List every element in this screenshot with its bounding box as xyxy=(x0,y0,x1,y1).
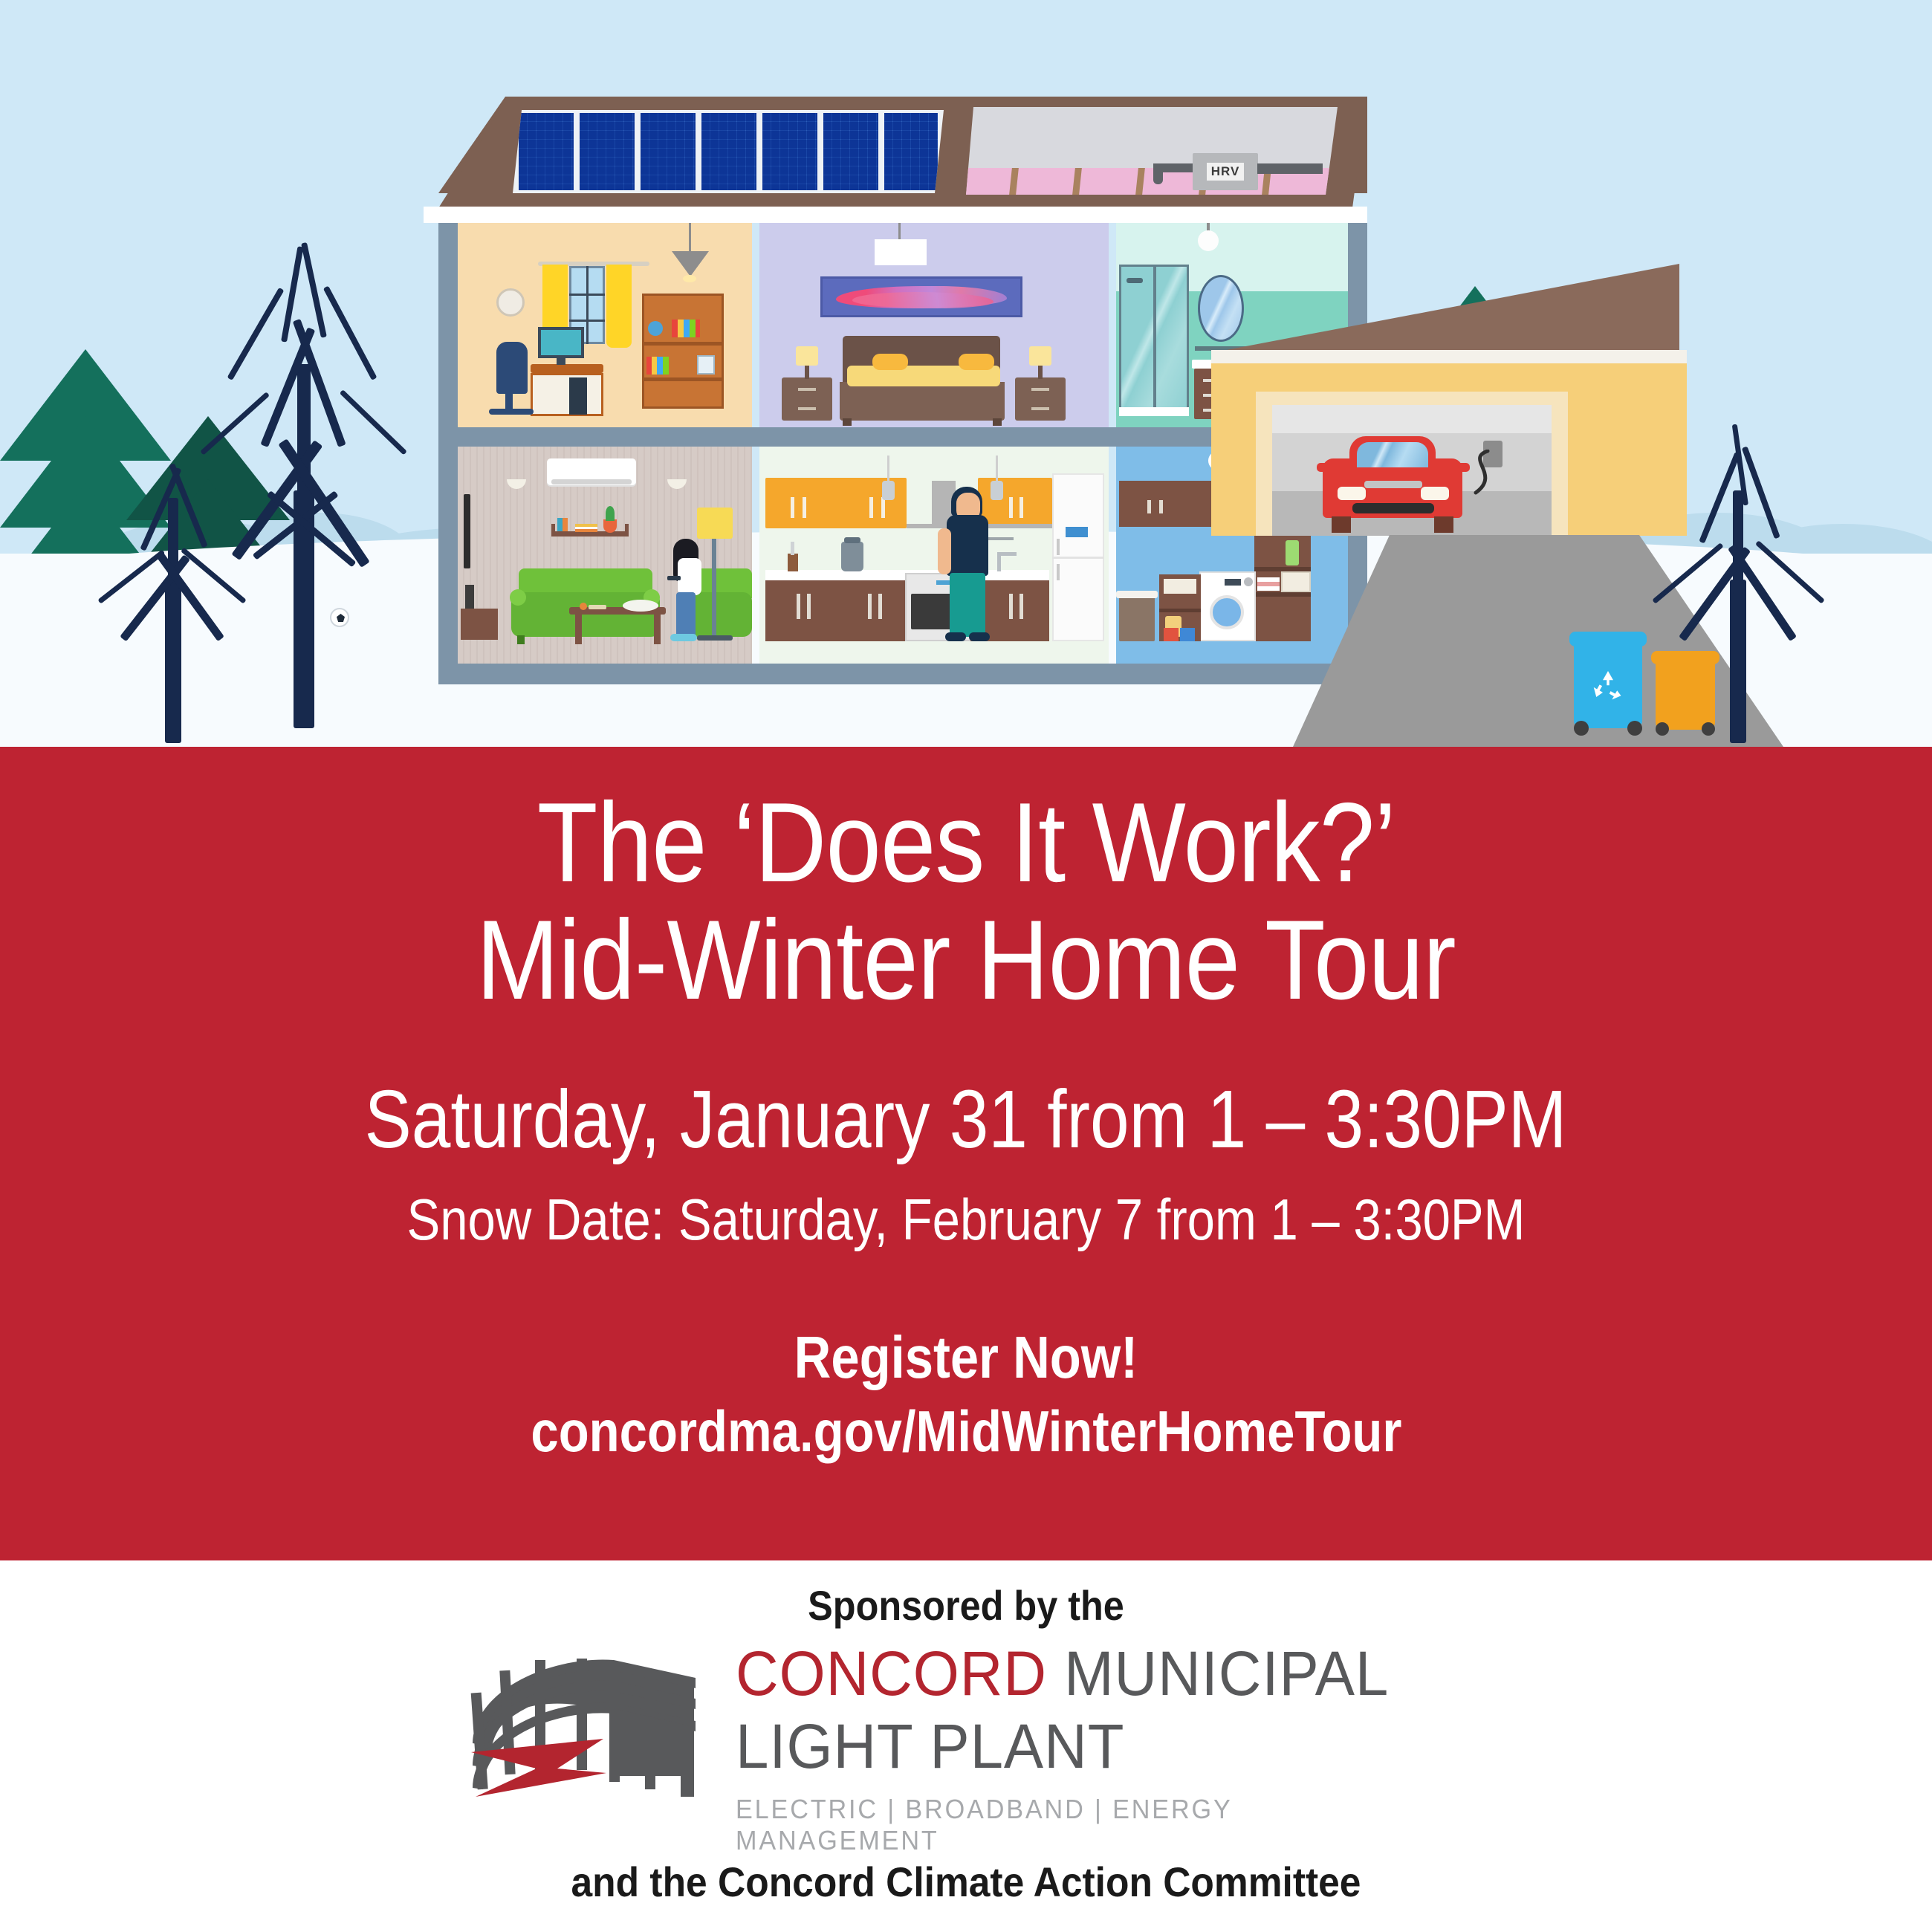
logo-tagline: ELECTRIC | BROADBAND | ENERGY MANAGEMENT xyxy=(736,1794,1442,1856)
shelf-books xyxy=(557,518,568,531)
cabinet-handle xyxy=(1009,594,1013,619)
cabinet-handle xyxy=(868,594,872,619)
hrv-duct-elbow xyxy=(1153,163,1163,184)
poster-root: HRV xyxy=(0,0,1932,1932)
room-kitchen xyxy=(759,447,1109,664)
kettle-lid xyxy=(844,537,860,543)
shelf-board xyxy=(1254,592,1311,597)
cabinet-handle xyxy=(807,594,811,619)
shelf-bracket xyxy=(551,524,555,534)
bed-base xyxy=(840,382,1005,421)
pendant-light-right xyxy=(996,456,998,481)
books xyxy=(672,320,700,337)
hrv-duct-right xyxy=(1257,163,1323,174)
coffee-table-leg xyxy=(654,615,661,644)
solar-panel xyxy=(701,113,756,190)
potted-plant-pot xyxy=(603,519,617,533)
event-snow-date: Snow Date: Saturday, February 7 from 1 –… xyxy=(406,1186,1525,1254)
cabinet-handle xyxy=(803,497,806,518)
pendant-light-right xyxy=(991,481,1003,500)
exterior-wall-left xyxy=(438,223,458,684)
refrigerator-display xyxy=(1066,527,1088,537)
faucet-spout xyxy=(997,552,1017,556)
room-living-room xyxy=(458,447,752,664)
roof-eave xyxy=(424,207,1367,223)
bare-tree-small-left xyxy=(82,424,275,743)
nightstand-drawer-handle xyxy=(1031,407,1049,410)
window-mullion xyxy=(569,320,605,322)
floating-shelf xyxy=(551,531,629,537)
cabinet-handle xyxy=(797,594,800,619)
bookshelf-shelf xyxy=(642,377,724,381)
attic: HRV xyxy=(966,107,1338,195)
red-electric-car-mirror xyxy=(1455,463,1470,472)
garage-roof xyxy=(1219,264,1679,351)
nightstand-drawer-handle xyxy=(798,388,816,391)
trash-bin-indoor xyxy=(1119,595,1155,641)
sconce-right xyxy=(667,479,687,489)
solar-panel xyxy=(641,113,696,190)
bare-tree-right xyxy=(1635,409,1858,743)
solar-panel xyxy=(519,113,574,190)
logo-name-line1: CONCORD MUNICIPAL xyxy=(736,1642,1442,1705)
hrv-label: HRV xyxy=(1207,163,1245,181)
shower-head xyxy=(1127,278,1143,283)
garage-door-panel xyxy=(1272,405,1552,433)
smartphone xyxy=(667,576,681,580)
table-lamp-right-stem xyxy=(1038,366,1043,379)
globe xyxy=(648,321,663,336)
shelf-books-stack xyxy=(575,524,597,532)
storage-box xyxy=(1281,571,1311,592)
window-mullion xyxy=(586,266,589,344)
floor-lamp-pole xyxy=(712,524,716,637)
books xyxy=(646,357,669,375)
ceiling-panel-light xyxy=(875,239,927,265)
register-label: Register Now! xyxy=(794,1323,1138,1392)
fruit-bowl xyxy=(623,600,658,612)
potted-plant-leaves xyxy=(606,506,615,521)
cabinet-handle xyxy=(1147,500,1151,513)
picture-frame xyxy=(697,355,715,375)
pendant-light-left xyxy=(887,456,889,481)
pillow-right xyxy=(959,354,994,370)
logo-word-concord: CONCORD xyxy=(736,1638,1047,1708)
concord-bridge-logo-mark xyxy=(468,1650,713,1821)
nightstand-drawer-handle xyxy=(798,407,816,410)
washing-machine-panel xyxy=(1225,579,1241,586)
cabinet-handle xyxy=(878,594,882,619)
rooftop-solar-array xyxy=(513,110,944,193)
green-sofa-seat xyxy=(511,592,660,637)
monitor xyxy=(538,327,584,358)
person-cooking-torso xyxy=(947,515,988,576)
red-electric-car-mirror xyxy=(1317,463,1332,472)
shower-base xyxy=(1119,407,1189,416)
window-mullion xyxy=(569,294,605,296)
wall-mounted-tv xyxy=(464,494,470,568)
person-cooking-shoe xyxy=(969,632,990,641)
ceiling-light-cord xyxy=(898,223,901,239)
event-date: Saturday, January 31 from 1 – 3:30PM xyxy=(365,1072,1567,1167)
washing-machine-dial xyxy=(1244,577,1253,586)
person-on-sofa-shoe xyxy=(670,634,697,641)
cmlp-logo: CONCORD MUNICIPAL LIGHT PLANT ELECTRIC |… xyxy=(468,1642,1479,1843)
folded-towels xyxy=(1257,577,1280,591)
floor-lamp-shade xyxy=(697,508,733,539)
orange-upper-cabinets-right xyxy=(978,478,1052,528)
cabinet-handle xyxy=(881,497,885,518)
globe-ceiling-light xyxy=(1198,230,1219,251)
refrigerator-divider xyxy=(1052,557,1104,559)
pendant-lamp-cord xyxy=(689,223,691,251)
sofa-leg xyxy=(517,635,525,644)
pendant-lamp-glow xyxy=(683,275,696,282)
recycle-icon xyxy=(1587,666,1629,707)
table-lamp-left-stem xyxy=(805,366,809,379)
solar-panel xyxy=(580,113,635,190)
mini-split-vent xyxy=(551,479,632,484)
logo-word-municipal: MUNICIPAL xyxy=(1064,1638,1389,1708)
pendant-lamp xyxy=(672,251,709,276)
wall-clock xyxy=(496,288,525,317)
red-electric-car-headlight xyxy=(1338,487,1366,500)
nightstand-drawer-handle xyxy=(1031,388,1049,391)
monitor-stand xyxy=(557,358,565,365)
shelf-bracket xyxy=(625,524,629,534)
cabinet-handle xyxy=(1159,500,1163,513)
red-electric-car-headlight xyxy=(1421,487,1449,500)
cmlp-logo-text: CONCORD MUNICIPAL LIGHT PLANT ELECTRIC |… xyxy=(736,1642,1479,1856)
bookshelf-shelf xyxy=(642,342,724,346)
recycling-bin-wheel xyxy=(1574,721,1589,736)
event-title-line2: Mid-Winter Home Tour xyxy=(476,901,1456,1020)
sponsored-by-label: Sponsored by the xyxy=(97,1581,1835,1630)
floor-lamp-base xyxy=(697,635,733,641)
red-electric-car-tire xyxy=(1434,516,1453,533)
red-electric-car-tire xyxy=(1332,516,1351,533)
heat-recovery-ventilator: HRV xyxy=(1193,153,1258,190)
laundry-basket xyxy=(1164,628,1179,641)
laundry-basket xyxy=(1180,628,1195,641)
computer-tower xyxy=(569,377,587,415)
bookshelf xyxy=(642,294,724,409)
soccer-ball xyxy=(330,608,349,627)
remote-control xyxy=(589,605,606,609)
electric-kettle xyxy=(841,542,863,571)
table-lamp-right-shade xyxy=(1029,346,1051,366)
nightstand-left xyxy=(782,377,832,421)
logo-name-line2: LIGHT PLANT xyxy=(736,1715,1442,1777)
bed-leg xyxy=(843,418,852,426)
laundry-supplies-box xyxy=(1164,579,1196,594)
desk xyxy=(531,364,603,373)
register-url[interactable]: concordma.gov/MidWinterHomeTour xyxy=(531,1398,1401,1465)
solar-panel xyxy=(762,113,817,190)
office-chair-legs xyxy=(489,409,534,415)
coffee-table-leg xyxy=(575,615,582,644)
knife-blade xyxy=(791,542,794,555)
garage-fascia xyxy=(1211,350,1687,363)
red-electric-car-grille xyxy=(1364,481,1422,488)
curtain-right xyxy=(606,265,632,348)
event-banner: The ‘Does It Work?’ Mid-Winter Home Tour… xyxy=(0,747,1932,1560)
trash-bin-lid xyxy=(1116,591,1158,598)
room-bedroom xyxy=(759,223,1109,427)
house-foundation xyxy=(438,664,1367,684)
person-cooking-arm xyxy=(938,528,951,574)
bed-leg xyxy=(993,418,1002,426)
refrigerator-handle xyxy=(1057,564,1060,580)
person-on-sofa-legs xyxy=(676,592,696,637)
cabinet-handle xyxy=(1020,594,1023,619)
person-on-sofa-torso xyxy=(678,558,701,595)
pendant-light-left xyxy=(882,481,895,500)
pillow-left xyxy=(872,354,908,370)
table-lamp-left-shade xyxy=(796,346,818,366)
red-electric-car-windshield xyxy=(1357,442,1428,467)
person-cooking-shoe xyxy=(945,632,966,641)
sofa-arm-left xyxy=(510,589,526,606)
cabinet-handle xyxy=(1009,497,1013,518)
sconce-left xyxy=(507,479,526,489)
sponsor-footer: Sponsored by the xyxy=(0,1560,1932,1932)
co-sponsor-label: and the Concord Climate Action Committee xyxy=(77,1858,1855,1906)
washing-machine-door xyxy=(1210,595,1244,629)
cabinet-handle xyxy=(869,497,873,518)
laundry-cart-shelf xyxy=(1159,609,1201,612)
red-electric-car-bumper xyxy=(1352,503,1434,513)
cabinet-handle xyxy=(1020,497,1023,518)
knife-block xyxy=(788,554,798,571)
office-chair xyxy=(496,342,528,394)
desk-cabinet xyxy=(531,373,603,416)
cabinet-handle xyxy=(791,497,794,518)
orange-fruit xyxy=(580,603,587,610)
refrigerator-handle xyxy=(1057,539,1060,555)
detergent-bottle xyxy=(1286,540,1299,565)
room-home-office xyxy=(458,223,752,427)
person-cooking-legs xyxy=(950,573,985,637)
event-title-line1: The ‘Does It Work?’ xyxy=(537,785,1395,901)
wall-art xyxy=(820,276,1022,317)
solar-panel xyxy=(884,113,938,190)
tv-console xyxy=(461,609,498,640)
nightstand-right xyxy=(1015,377,1066,421)
shower-door-divider xyxy=(1153,265,1156,413)
hero-illustration: HRV xyxy=(0,0,1932,747)
solar-panel xyxy=(823,113,878,190)
